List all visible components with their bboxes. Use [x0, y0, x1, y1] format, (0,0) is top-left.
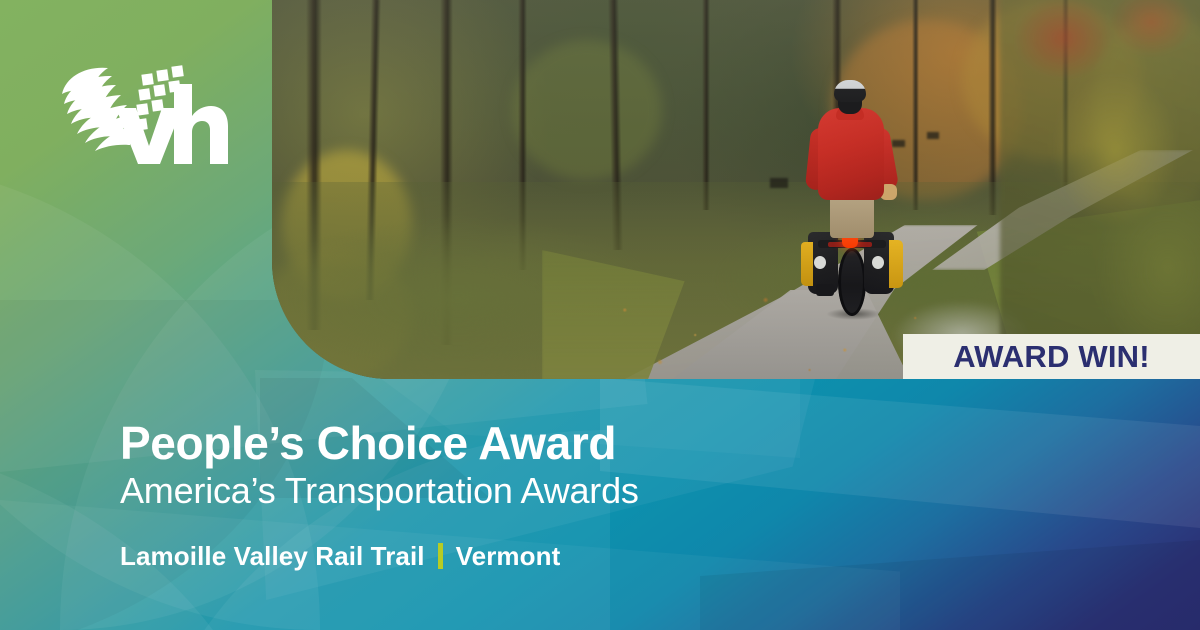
- bicycle-rear-wheel: [838, 248, 866, 316]
- project-location: Vermont: [456, 541, 561, 572]
- vhb-logo[interactable]: [56, 58, 241, 168]
- trailside-post: [927, 132, 939, 139]
- pannier-reflector: [814, 256, 826, 269]
- award-title: People’s Choice Award: [120, 420, 880, 468]
- vhb-logo-wordmark: [116, 84, 241, 164]
- roadside-shrub: [1000, 0, 1200, 379]
- hero-photo: [272, 0, 1200, 379]
- rider-helmet: [834, 80, 866, 102]
- award-announcement-graphic: AWARD WIN! People’s Choice Award America…: [0, 0, 1200, 630]
- award-subtitle: America’s Transportation Awards: [120, 469, 880, 513]
- award-win-badge: AWARD WIN!: [903, 334, 1200, 379]
- bicycle-pedal: [816, 284, 834, 296]
- award-text-block: People’s Choice Award America’s Transpor…: [120, 420, 880, 572]
- trailside-post: [770, 178, 788, 188]
- project-divider-icon: [438, 543, 443, 569]
- project-name: Lamoille Valley Rail Trail: [120, 541, 425, 572]
- project-line: Lamoille Valley Rail Trail Vermont: [120, 541, 880, 572]
- pannier-reflector: [872, 256, 884, 269]
- photo-canvas: [272, 0, 1200, 379]
- cyclist-figure: [794, 80, 904, 315]
- rider-red-jacket: [818, 108, 884, 200]
- vhb-logo-b: [232, 84, 241, 164]
- award-win-label: AWARD WIN!: [953, 341, 1150, 372]
